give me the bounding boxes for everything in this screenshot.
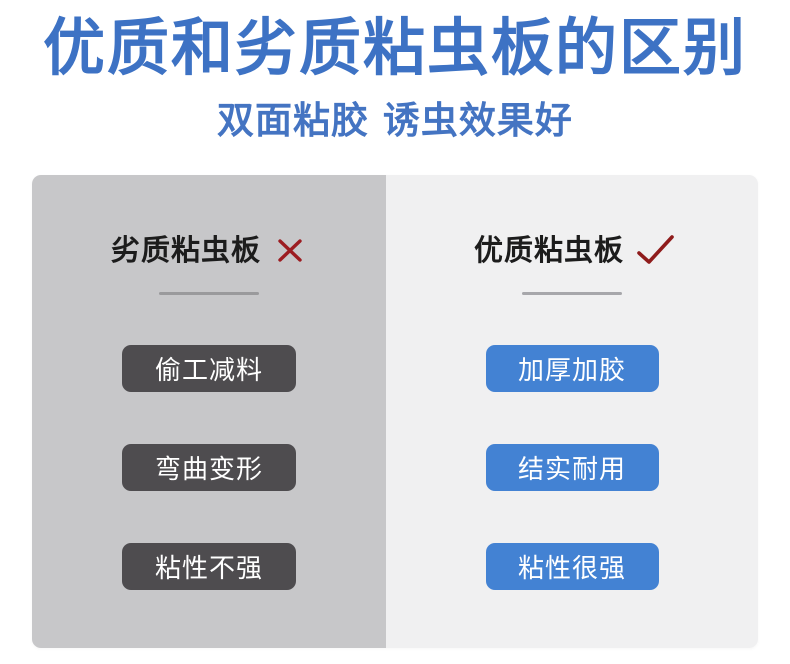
panel-inferior-feature-list: 偷工减料 弯曲变形 粘性不强: [32, 345, 386, 590]
panel-inferior-product: 劣质粘虫板 偷工减料 弯曲变形 粘性不强: [32, 175, 386, 648]
panel-inferior-heading: 劣质粘虫板: [32, 229, 386, 271]
panel-premium-product: 优质粘虫板 加厚加胶 结实耐用 粘性很强: [386, 175, 758, 648]
panel-premium-feature-list: 加厚加胶 结实耐用 粘性很强: [386, 345, 758, 590]
panel-premium-heading-text: 优质粘虫板: [474, 229, 624, 271]
feature-pill: 粘性很强: [486, 543, 659, 590]
feature-pill: 结实耐用: [486, 444, 659, 491]
feature-pill: 加厚加胶: [486, 345, 659, 392]
header-block: 优质和劣质粘虫板的区别 双面粘胶 诱虫效果好: [0, 0, 790, 143]
page-subtitle: 双面粘胶 诱虫效果好: [0, 85, 790, 143]
feature-pill: 偷工减料: [122, 345, 296, 392]
panel-inferior-heading-text: 劣质粘虫板: [111, 229, 261, 271]
page-title: 优质和劣质粘虫板的区别: [0, 0, 790, 85]
check-mark-icon: [636, 233, 670, 267]
feature-pill: 粘性不强: [122, 543, 296, 590]
cross-mark-icon: [273, 233, 307, 267]
promo-banner: 优质和劣质粘虫板的区别 双面粘胶 诱虫效果好 劣质粘虫板 偷工减料 弯曲变形 粘…: [0, 0, 790, 664]
panel-inferior-divider: [159, 292, 259, 295]
panel-premium-divider: [522, 292, 622, 295]
feature-pill: 弯曲变形: [122, 444, 296, 491]
comparison-card: 劣质粘虫板 偷工减料 弯曲变形 粘性不强 优质粘虫板: [32, 175, 758, 648]
panel-premium-heading: 优质粘虫板: [386, 229, 758, 271]
